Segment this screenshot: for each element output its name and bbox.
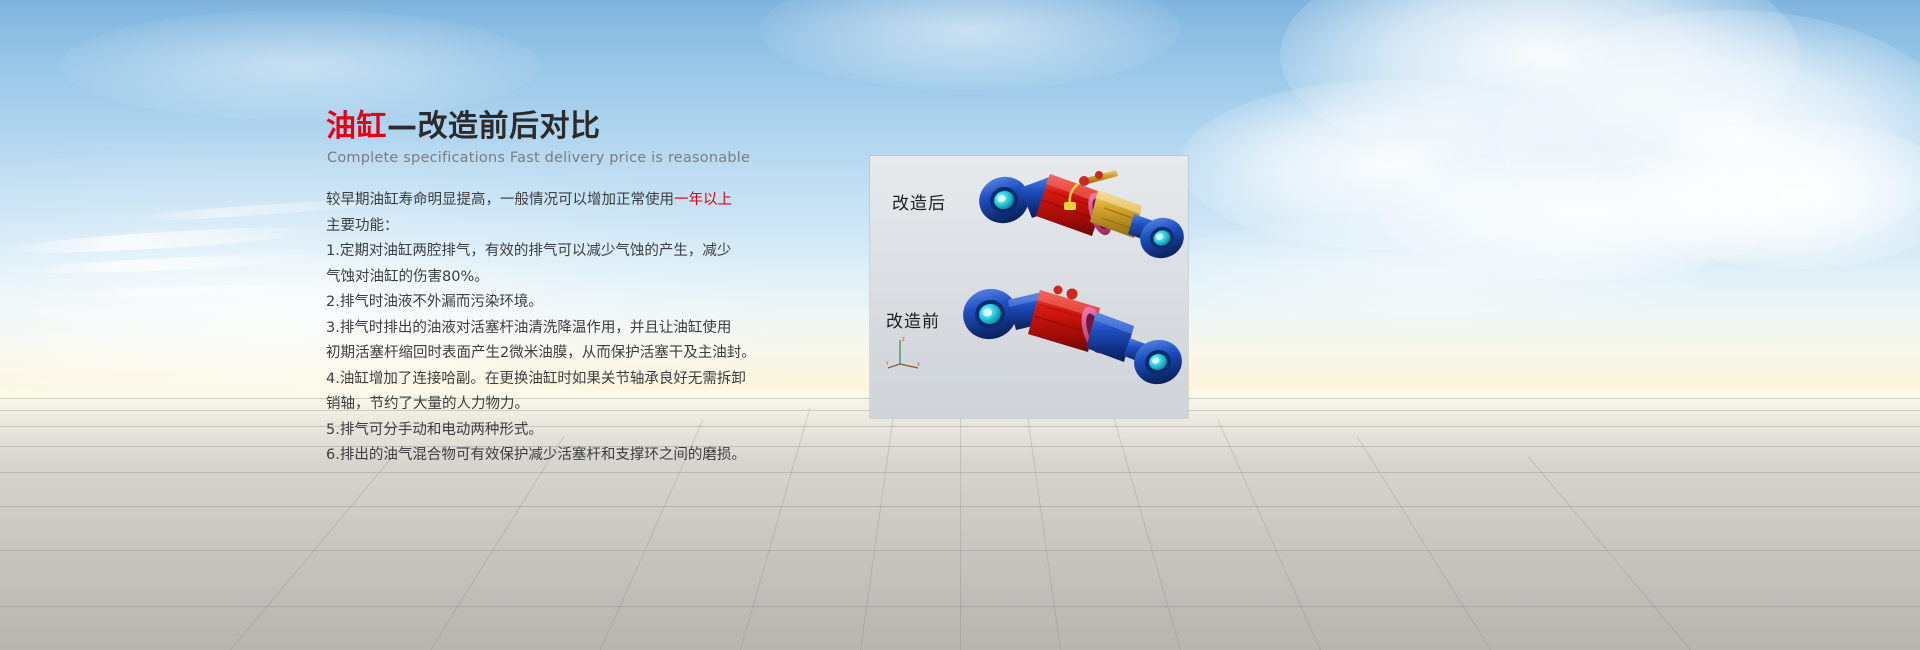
label-after-modification: 改造后: [892, 189, 946, 214]
banner-stage: 油缸—改造前后对比 Complete specifications Fast d…: [0, 0, 1920, 650]
feature-line: 气蚀对油缸的伤害80%。: [326, 265, 846, 291]
label-before-modification: 改造前: [886, 307, 940, 332]
axis-triad-icon: Z X Y: [886, 334, 922, 370]
feature-line: 1.定期对油缸两腔排气，有效的排气可以减少气蚀的产生，减少: [326, 239, 846, 265]
functions-heading: 主要功能：: [326, 214, 846, 240]
feature-line: 6.排出的油气混合物可有效保护减少活塞杆和支撑环之间的磨损。: [326, 443, 846, 469]
cylinder-before-illustration: [954, 274, 1184, 406]
ground-line: [230, 457, 393, 650]
ground-plane: [0, 390, 1920, 650]
svg-text:Z: Z: [902, 337, 905, 342]
page-subtitle: Complete specifications Fast delivery pr…: [327, 150, 846, 166]
ground-line: [1357, 436, 1491, 650]
lead-paragraph: 较早期油缸寿命明显提高，一般情况可以增加正常使用一年以上: [326, 188, 846, 214]
feature-line: 初期活塞杆缩回时表面产生2微米油膜，从而保护活塞干及主油封。: [326, 341, 846, 367]
page-title-rest: —改造前后对比: [387, 109, 601, 144]
product-comparison-panel: 改造后 改造前 Z X Y: [870, 156, 1188, 418]
svg-text:Y: Y: [886, 361, 889, 366]
lead-highlight: 一年以上: [674, 192, 732, 208]
ground-line: [1528, 457, 1691, 650]
feature-line: 4.油缸增加了连接哈副。在更换油缸时如果关节轴承良好无需拆卸: [326, 367, 846, 393]
page-title: 油缸—改造前后对比: [326, 108, 846, 146]
page-title-accent: 油缸: [326, 109, 387, 144]
lead-text: 较早期油缸寿命明显提高，一般情况可以增加正常使用: [326, 192, 674, 208]
feature-line: 3.排气时排出的油液对活塞杆油清洗降温作用，并且让油缸使用: [326, 316, 846, 342]
svg-text:X: X: [917, 362, 920, 367]
feature-line: 2.排气时油液不外漏而污染环境。: [326, 290, 846, 316]
feature-line: 销轴，节约了大量的人力物力。: [326, 392, 846, 418]
feature-line: 5.排气可分手动和电动两种形式。: [326, 418, 846, 444]
feature-text-block: 较早期油缸寿命明显提高，一般情况可以增加正常使用一年以上 主要功能： 1.定期对…: [326, 188, 846, 469]
ground-line: [960, 398, 961, 650]
cylinder-after-illustration: [966, 162, 1184, 280]
banner-content: 油缸—改造前后对比 Complete specifications Fast d…: [326, 108, 846, 469]
